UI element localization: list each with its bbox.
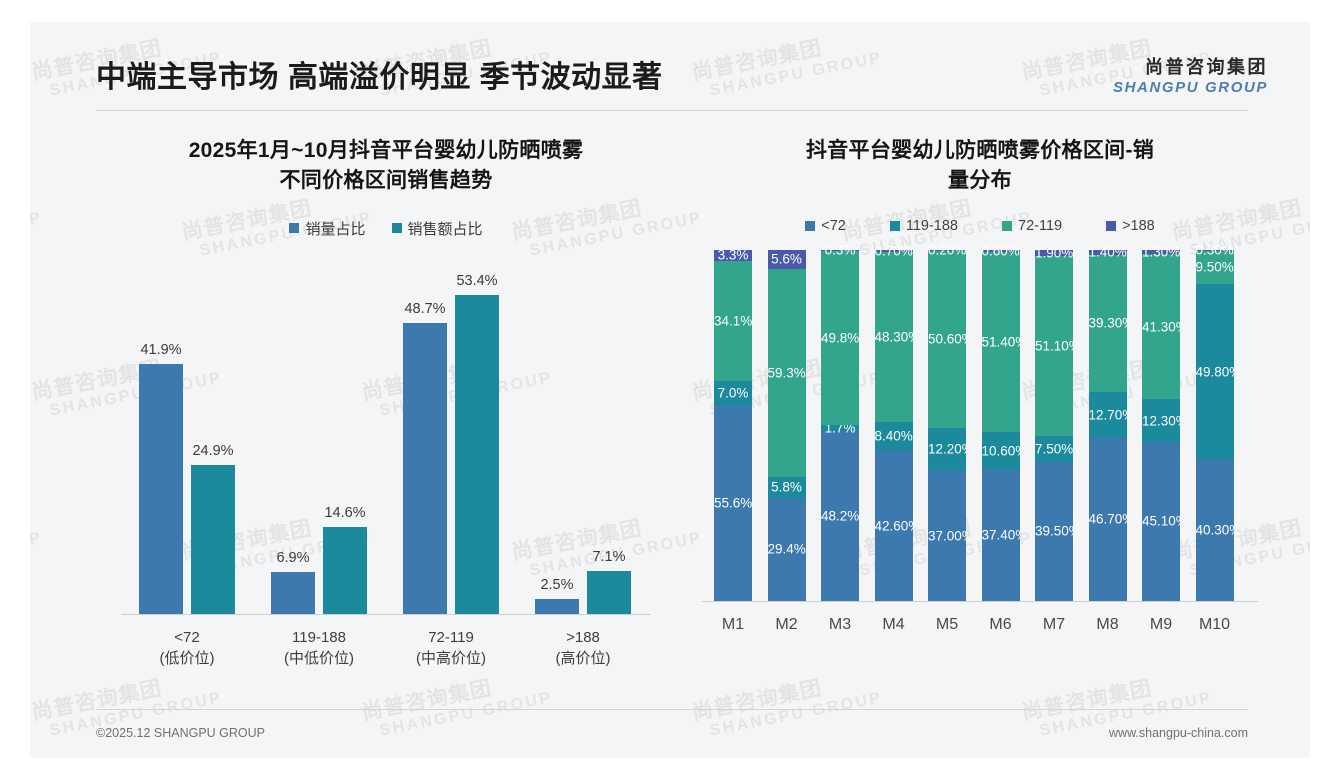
- right-chart-plot-area: 55.6%7.0%34.1%3.3%29.4%5.8%59.3%5.6%48.2…: [702, 250, 1258, 602]
- footer-divider: [96, 709, 1248, 710]
- stack-segment-label: 7.0%: [714, 386, 752, 400]
- stack-segment: 8.40%: [875, 422, 913, 451]
- stack-segment-label: 59.3%: [768, 366, 806, 380]
- bar-column[interactable]: 7.1%: [587, 257, 631, 614]
- legend-item-2[interactable]: 销售额占比: [392, 218, 483, 239]
- stack-segment: 50.60%: [928, 250, 966, 428]
- left-chart-plot-area: 41.9%24.9%6.9%14.6%48.7%53.4%2.5%7.1%: [121, 257, 651, 615]
- stack-segment-label: 39.30%: [1089, 317, 1127, 331]
- stacked-bar[interactable]: 55.6%7.0%34.1%3.3%: [714, 250, 752, 601]
- month-label: M9: [1131, 604, 1191, 634]
- category-label-tier: (中低价位): [253, 648, 385, 670]
- stack-segment: 55.6%: [714, 405, 752, 600]
- category-label-range: <72: [121, 627, 253, 649]
- bar-column[interactable]: 6.9%: [271, 257, 315, 614]
- stacked-bar[interactable]: 39.50%7.50%51.10%1.90%: [1035, 250, 1073, 601]
- right-chart-title: 抖音平台婴幼儿防晒喷雾价格区间-销 量分布: [690, 118, 1270, 196]
- charts-container: 2025年1月~10月抖音平台婴幼儿防晒喷雾 不同价格区间销售趋势 销量占比销售…: [30, 118, 1310, 704]
- legend-item-2[interactable]: 119-188: [890, 218, 958, 234]
- stack-segment-label: 8.40%: [875, 430, 913, 444]
- stack-segment: 51.40%: [982, 252, 1020, 432]
- bar: [191, 465, 235, 614]
- stacked-bar[interactable]: 37.40%10.60%51.40%0.60%: [982, 250, 1020, 601]
- left-chart-title-line1: 2025年1月~10月抖音平台婴幼儿防晒喷雾: [96, 136, 676, 166]
- legend-label: >188: [1122, 218, 1155, 234]
- footer-website: www.shangpu-china.com: [1109, 726, 1248, 740]
- bar-value-label: 41.9%: [140, 342, 181, 358]
- stack-segment: 34.1%: [714, 261, 752, 381]
- bar-column[interactable]: 53.4%: [455, 257, 499, 614]
- stacked-bar[interactable]: 40.30%49.80%9.50%0.30%: [1196, 250, 1234, 601]
- stacked-bar[interactable]: 46.70%12.70%39.30%1.40%: [1089, 250, 1127, 601]
- month-label: M1: [703, 604, 763, 634]
- month-label: M5: [917, 604, 977, 634]
- bar-value-label: 7.1%: [592, 549, 625, 565]
- legend-swatch-icon: [392, 223, 402, 233]
- stack-segment-label: 12.20%: [928, 443, 966, 457]
- stack-segment: 46.70%: [1089, 437, 1127, 601]
- left-chart-panel: 2025年1月~10月抖音平台婴幼儿防晒喷雾 不同价格区间销售趋势 销量占比销售…: [96, 118, 676, 704]
- stack-segment-label: 39.50%: [1035, 525, 1073, 539]
- left-chart-title-line2: 不同价格区间销售趋势: [96, 166, 676, 196]
- stack-segment-label: 48.30%: [875, 330, 913, 344]
- legend-label: 72-119: [1018, 218, 1062, 234]
- stack-segment-label: 5.6%: [768, 253, 806, 267]
- stack-segment: 29.4%: [768, 498, 806, 601]
- bar: [455, 295, 499, 614]
- stack-segment-label: 51.40%: [982, 335, 1020, 349]
- stack-segment: 49.80%: [1196, 284, 1234, 459]
- legend-swatch-icon: [1106, 221, 1116, 231]
- left-chart-category-axis: <72(低价位)119-188(中低价位)72-119(中高价位)>188(高价…: [121, 617, 651, 673]
- category-label-range: 119-188: [253, 627, 385, 649]
- stack-segment-label: 50.60%: [928, 332, 966, 346]
- legend-label: 销售额占比: [408, 218, 483, 239]
- company-logo: 尚普咨询集团 SHANGPU GROUP: [1113, 56, 1268, 97]
- stack-segment-label: 41.30%: [1142, 320, 1180, 334]
- month-label: M8: [1078, 604, 1138, 634]
- stacked-bar[interactable]: 29.4%5.8%59.3%5.6%: [768, 250, 806, 601]
- stack-segment: 37.40%: [982, 469, 1020, 600]
- stack-segment-label: 29.4%: [768, 542, 806, 556]
- bar-group: 41.9%24.9%: [121, 257, 253, 614]
- left-chart-legend: 销量占比销售额占比: [96, 218, 676, 239]
- stack-segment-label: 37.40%: [982, 528, 1020, 542]
- stack-segment: 49.8%: [821, 251, 859, 426]
- bar-column[interactable]: 41.9%: [139, 257, 183, 614]
- logo-chinese-name: 尚普咨询集团: [1113, 56, 1268, 79]
- stack-segment: 7.0%: [714, 381, 752, 406]
- stacked-bar[interactable]: 48.2%1.7%49.8%0.3%: [821, 250, 859, 601]
- category-label: 72-119(中高价位): [385, 617, 517, 671]
- stack-segment-label: 9.50%: [1196, 261, 1234, 275]
- stack-segment: 41.30%: [1142, 254, 1180, 399]
- stack-segment-label: 0.70%: [875, 244, 913, 258]
- stack-segment: 0.70%: [875, 250, 913, 252]
- logo-english-name: SHANGPU GROUP: [1113, 79, 1268, 97]
- stacked-bar[interactable]: 42.60%8.40%48.30%0.70%: [875, 250, 913, 601]
- legend-swatch-icon: [890, 221, 900, 231]
- stack-segment: 39.30%: [1089, 255, 1127, 393]
- stack-segment: 48.2%: [821, 431, 859, 600]
- stack-segment: 0.20%: [928, 250, 966, 251]
- stack-segment-label: 34.1%: [714, 314, 752, 328]
- right-chart-month-axis: M1M2M3M4M5M6M7M8M9M10: [702, 604, 1258, 644]
- bar: [271, 572, 315, 613]
- stack-segment-label: 7.50%: [1035, 442, 1073, 456]
- stack-segment: 1.40%: [1089, 250, 1127, 255]
- slide-footer: ©2025.12 SHANGPU GROUP www.shangpu-china…: [96, 726, 1248, 740]
- bar-group: 6.9%14.6%: [253, 257, 385, 614]
- stack-segment-label: 1.90%: [1035, 246, 1073, 260]
- stack-segment-label: 42.60%: [875, 519, 913, 533]
- stacked-bar[interactable]: 45.10%12.30%41.30%1.30%: [1142, 250, 1180, 601]
- stack-segment-label: 37.00%: [928, 529, 966, 543]
- bar-column[interactable]: 2.5%: [535, 257, 579, 614]
- slide: 尚普咨询集团SHANGPU GROUP尚普咨询集团SHANGPU GROUP尚普…: [0, 0, 1340, 780]
- category-label-tier: (中高价位): [385, 648, 517, 670]
- page-title: 中端主导市场 高端溢价明显 季节波动显著: [96, 52, 663, 96]
- bar: [323, 527, 367, 614]
- stack-segment: 48.30%: [875, 252, 913, 422]
- stack-segment-label: 0.20%: [928, 243, 966, 257]
- stack-segment-label: 55.6%: [714, 496, 752, 510]
- bar: [535, 599, 579, 614]
- bar-column[interactable]: 24.9%: [191, 257, 235, 614]
- bar-value-label: 14.6%: [324, 505, 365, 521]
- bar-column[interactable]: 48.7%: [403, 257, 447, 614]
- stack-segment-label: 1.30%: [1142, 245, 1180, 259]
- stack-segment-label: 49.8%: [821, 331, 859, 345]
- legend-item-3[interactable]: 72-119: [1002, 218, 1062, 234]
- right-chart-title-line1: 抖音平台婴幼儿防晒喷雾价格区间-销: [690, 136, 1270, 166]
- stack-segment: 10.60%: [982, 432, 1020, 469]
- stack-segment-label: 3.3%: [714, 249, 752, 263]
- stack-segment: 5.6%: [768, 250, 806, 270]
- bar-group: 2.5%7.1%: [517, 257, 649, 614]
- bar: [403, 323, 447, 614]
- category-label-tier: (低价位): [121, 648, 253, 670]
- legend-item-1[interactable]: 销量占比: [289, 218, 365, 239]
- stack-segment: 12.30%: [1142, 399, 1180, 442]
- right-chart-panel: 抖音平台婴幼儿防晒喷雾价格区间-销 量分布 <72119-18872-119>1…: [690, 118, 1270, 704]
- category-label: <72(低价位): [121, 617, 253, 671]
- legend-label: <72: [821, 218, 846, 234]
- category-label: >188(高价位): [517, 617, 649, 671]
- stack-segment-label: 48.2%: [821, 509, 859, 523]
- month-label: M2: [757, 604, 817, 634]
- stack-segment: 37.00%: [928, 471, 966, 601]
- stack-segment: 40.30%: [1196, 459, 1234, 601]
- legend-label: 销量占比: [305, 218, 365, 239]
- stacked-bar[interactable]: 37.00%12.20%50.60%0.20%: [928, 250, 966, 601]
- bar: [587, 571, 631, 613]
- bar-value-label: 53.4%: [456, 273, 497, 289]
- right-chart-title-line2: 量分布: [690, 166, 1270, 196]
- stack-segment: 1.90%: [1035, 250, 1073, 257]
- stack-segment: 3.3%: [714, 250, 752, 262]
- bar-value-label: 2.5%: [540, 577, 573, 593]
- stack-segment-label: 51.10%: [1035, 339, 1073, 353]
- legend-swatch-icon: [805, 221, 815, 231]
- stack-segment-label: 0.3%: [821, 243, 859, 257]
- stack-segment: 1.30%: [1142, 250, 1180, 255]
- bar-value-label: 48.7%: [404, 301, 445, 317]
- month-label: M3: [810, 604, 870, 634]
- month-label: M6: [971, 604, 1031, 634]
- category-label: 119-188(中低价位): [253, 617, 385, 671]
- legend-swatch-icon: [289, 223, 299, 233]
- stack-segment-label: 12.30%: [1142, 414, 1180, 428]
- stack-segment-label: 46.70%: [1089, 512, 1127, 526]
- stack-segment-label: 5.8%: [768, 481, 806, 495]
- legend-swatch-icon: [1002, 221, 1012, 231]
- stack-segment: 51.10%: [1035, 256, 1073, 435]
- month-label: M4: [864, 604, 924, 634]
- slide-header: 中端主导市场 高端溢价明显 季节波动显著 尚普咨询集团 SHANGPU GROU…: [30, 22, 1310, 116]
- slide-canvas: 尚普咨询集团SHANGPU GROUP尚普咨询集团SHANGPU GROUP尚普…: [30, 22, 1310, 758]
- legend-label: 119-188: [906, 218, 958, 234]
- stack-segment-label: 1.40%: [1089, 245, 1127, 259]
- stack-segment: 39.50%: [1035, 462, 1073, 601]
- category-label-range: 72-119: [385, 627, 517, 649]
- stack-segment: 12.20%: [928, 428, 966, 471]
- stack-segment-label: 12.70%: [1089, 408, 1127, 422]
- stack-segment-label: 40.30%: [1196, 523, 1234, 537]
- stack-segment: 0.30%: [1196, 250, 1234, 251]
- bar-group: 48.7%53.4%: [385, 257, 517, 614]
- stack-segment: 59.3%: [768, 269, 806, 477]
- right-chart-legend: <72119-18872-119>188: [690, 218, 1270, 234]
- footer-copyright: ©2025.12 SHANGPU GROUP: [96, 726, 265, 740]
- category-label-tier: (高价位): [517, 648, 649, 670]
- stack-segment-label: 45.10%: [1142, 515, 1180, 529]
- stack-segment: 12.70%: [1089, 392, 1127, 437]
- left-chart: 41.9%24.9%6.9%14.6%48.7%53.4%2.5%7.1% <7…: [121, 257, 651, 657]
- bar-value-label: 24.9%: [192, 443, 233, 459]
- bar: [139, 364, 183, 614]
- header-divider: [96, 110, 1248, 111]
- stack-segment: 45.10%: [1142, 442, 1180, 600]
- month-label: M10: [1185, 604, 1245, 634]
- stack-segment-label: 0.60%: [982, 244, 1020, 258]
- month-label: M7: [1024, 604, 1084, 634]
- stack-segment: 5.8%: [768, 477, 806, 497]
- legend-item-1[interactable]: <72: [805, 218, 846, 234]
- stack-segment-label: 0.30%: [1196, 243, 1234, 257]
- stack-segment: 0.3%: [821, 250, 859, 251]
- stack-segment: 0.60%: [982, 250, 1020, 252]
- stack-segment: 7.50%: [1035, 436, 1073, 462]
- bar-value-label: 6.9%: [276, 550, 309, 566]
- stack-segment-label: 49.80%: [1196, 365, 1234, 379]
- stack-segment: 42.60%: [875, 451, 913, 601]
- left-chart-title: 2025年1月~10月抖音平台婴幼儿防晒喷雾 不同价格区间销售趋势: [96, 118, 676, 196]
- stack-segment-label: 10.60%: [982, 444, 1020, 458]
- bar-column[interactable]: 14.6%: [323, 257, 367, 614]
- right-chart: 55.6%7.0%34.1%3.3%29.4%5.8%59.3%5.6%48.2…: [702, 250, 1258, 650]
- category-label-range: >188: [517, 627, 649, 649]
- legend-item-4[interactable]: >188: [1106, 218, 1155, 234]
- stack-segment: 1.7%: [821, 425, 859, 431]
